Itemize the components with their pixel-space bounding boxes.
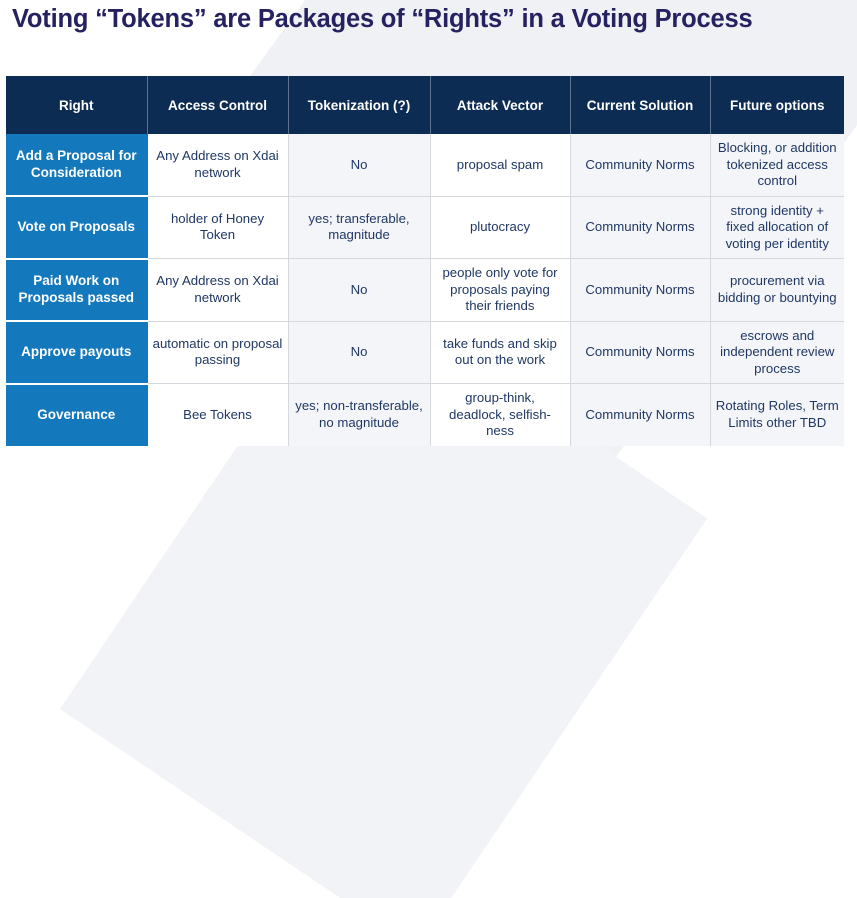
cell-attack-vector: people only vote for proposals paying th… xyxy=(430,259,570,322)
cell-current-solution: Community Norms xyxy=(570,259,710,322)
cell-current-solution: Community Norms xyxy=(570,321,710,384)
column-header-right: Right xyxy=(6,76,147,134)
cell-tokenization: No xyxy=(288,134,430,196)
table-row: Vote on Proposals holder of Honey Token … xyxy=(6,196,844,259)
rights-table: Right Access Control Tokenization (?) At… xyxy=(6,76,844,446)
cell-tokenization: No xyxy=(288,321,430,384)
cell-future-options: escrows and independent review process xyxy=(710,321,844,384)
column-header-attack-vector: Attack Vector xyxy=(430,76,570,134)
cell-future-options: Rotating Roles, Term Limits other TBD xyxy=(710,384,844,446)
cell-right: Governance xyxy=(6,384,147,446)
table-row: Approve payouts automatic on proposal pa… xyxy=(6,321,844,384)
slide-canvas: Voting “Tokens” are Packages of “Rights”… xyxy=(0,0,857,449)
cell-access-control: automatic on proposal passing xyxy=(147,321,288,384)
rights-table-container: Right Access Control Tokenization (?) At… xyxy=(6,76,844,446)
table-header: Right Access Control Tokenization (?) At… xyxy=(6,76,844,134)
cell-future-options: Blocking, or addition tokenized access c… xyxy=(710,134,844,196)
table-row: Paid Work on Proposals passed Any Addres… xyxy=(6,259,844,322)
cell-current-solution: Community Norms xyxy=(570,134,710,196)
cell-tokenization: yes; non-transferable, no magnitude xyxy=(288,384,430,446)
column-header-future-options: Future options xyxy=(710,76,844,134)
table-row: Governance Bee Tokens yes; non-transfera… xyxy=(6,384,844,446)
cell-tokenization: No xyxy=(288,259,430,322)
column-header-current-solution: Current Solution xyxy=(570,76,710,134)
page-title: Voting “Tokens” are Packages of “Rights”… xyxy=(12,5,842,34)
cell-attack-vector: take funds and skip out on the work xyxy=(430,321,570,384)
cell-future-options: strong identity + fixed allocation of vo… xyxy=(710,196,844,259)
cell-right: Vote on Proposals xyxy=(6,196,147,259)
cell-attack-vector: proposal spam xyxy=(430,134,570,196)
cell-access-control: Any Address on Xdai network xyxy=(147,134,288,196)
cell-access-control: holder of Honey Token xyxy=(147,196,288,259)
cell-access-control: Bee Tokens xyxy=(147,384,288,446)
cell-right: Add a Proposal for Consideration xyxy=(6,134,147,196)
table-row: Add a Proposal for Consideration Any Add… xyxy=(6,134,844,196)
cell-future-options: procurement via bidding or bountying xyxy=(710,259,844,322)
table-header-row: Right Access Control Tokenization (?) At… xyxy=(6,76,844,134)
cell-attack-vector: plutocracy xyxy=(430,196,570,259)
column-header-tokenization: Tokenization (?) xyxy=(288,76,430,134)
cell-tokenization: yes; transferable, magnitude xyxy=(288,196,430,259)
cell-access-control: Any Address on Xdai network xyxy=(147,259,288,322)
table-body: Add a Proposal for Consideration Any Add… xyxy=(6,134,844,446)
cell-right: Paid Work on Proposals passed xyxy=(6,259,147,322)
column-header-access-control: Access Control xyxy=(147,76,288,134)
cell-attack-vector: group-think, deadlock, selfish-ness xyxy=(430,384,570,446)
cell-current-solution: Community Norms xyxy=(570,196,710,259)
cell-right: Approve payouts xyxy=(6,321,147,384)
cell-current-solution: Community Norms xyxy=(570,384,710,446)
